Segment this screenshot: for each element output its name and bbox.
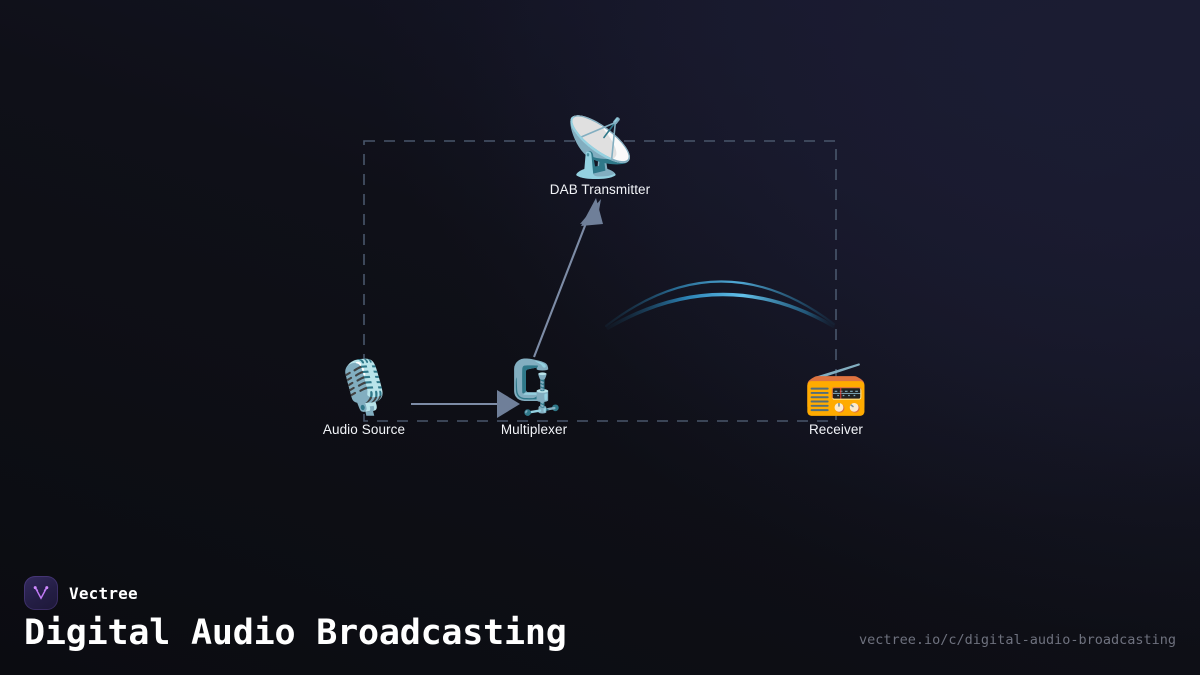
screenshot-root: 🎙️ Audio Source 🗜️ Multiplexer 📡 DAB Tra… (0, 0, 1200, 675)
page-title: Digital Audio Broadcasting (24, 613, 567, 653)
radio-wave-layer (0, 0, 1200, 560)
node-label-dab-transmitter: DAB Transmitter (520, 182, 680, 197)
footer: Vectree Digital Audio Broadcasting vectr… (0, 557, 1200, 675)
node-audio-source[interactable]: 🎙️ Audio Source (284, 362, 444, 437)
studio-microphone-icon: 🎙️ (284, 362, 444, 414)
node-multiplexer[interactable]: 🗜️ Multiplexer (454, 362, 614, 437)
radio-wave-arc-outer (606, 281, 834, 326)
brand-name: Vectree (69, 584, 138, 603)
brand-row[interactable]: Vectree (24, 576, 138, 610)
node-receiver[interactable]: 📻 Receiver (756, 362, 916, 437)
node-label-audio-source: Audio Source (284, 422, 444, 437)
radio-wave-arc-inner (608, 294, 833, 328)
compression-clamp-icon: 🗜️ (454, 362, 614, 414)
node-label-receiver: Receiver (756, 422, 916, 437)
vectree-v-logo-icon (24, 576, 58, 610)
diagram-canvas[interactable]: 🎙️ Audio Source 🗜️ Multiplexer 📡 DAB Tra… (0, 0, 1200, 560)
node-dab-transmitter[interactable]: 📡 DAB Transmitter (520, 118, 680, 197)
radio-icon: 📻 (756, 362, 916, 414)
satellite-antenna-icon: 📡 (520, 118, 680, 176)
node-label-multiplexer: Multiplexer (454, 422, 614, 437)
footer-url: vectree.io/c/digital-audio-broadcasting (859, 632, 1176, 648)
